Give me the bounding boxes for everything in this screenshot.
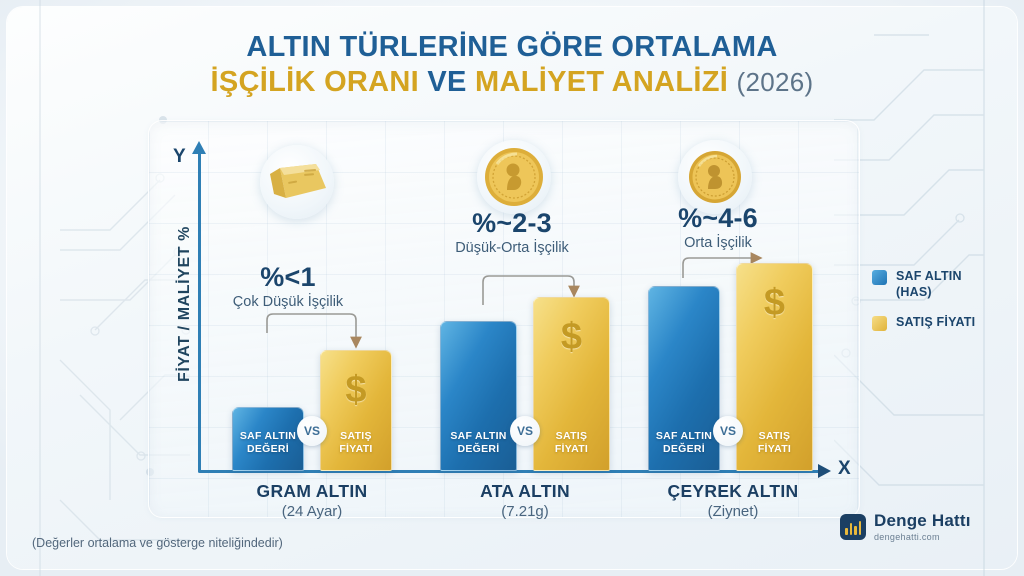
category-sub-3: (Ziynet) [628, 503, 838, 520]
title-blue-vs: VE [427, 66, 466, 98]
legend-item-satis-fiyati[interactable]: SATIŞ FİYATI [872, 314, 975, 331]
title-gold-b: MALİYET ANALİZİ [475, 66, 728, 98]
title-line-1: ALTIN TÜRLERİNE GÖRE ORTALAMA [0, 32, 1024, 63]
bar-label-satis-fiyati-2: SATIŞFİYATI [534, 430, 609, 456]
bar-label-saf-altin-3: SAF ALTINDEĞERİ [649, 430, 719, 456]
bar-label-satis-fiyati-1: SATIŞFİYATI [321, 430, 391, 456]
gold-coin-icon [483, 146, 545, 208]
category-sub-1: (24 Ayar) [212, 503, 412, 520]
category-name-3: ÇEYREK ALTIN [628, 481, 838, 502]
y-axis-title-anchor: FİYAT / MALİYET % [178, 150, 179, 151]
bar-group-gram-altin: SAF ALTINDEĞERİ $ SATIŞFİYATI VS [232, 231, 392, 471]
page-title: ALTIN TÜRLERİNE GÖRE ORTALAMA İŞÇİLİK OR… [0, 32, 1024, 97]
denge-hatti-logo-icon [840, 514, 866, 540]
gold-coin-small-icon [687, 149, 743, 205]
x-axis-letter: X [838, 458, 851, 480]
dollar-icon-1: $ [321, 369, 391, 412]
bar-label-saf-altin-1: SAF ALTINDEĞERİ [233, 430, 303, 456]
legend-label-satis-fiyati: SATIŞ FİYATI [896, 314, 975, 330]
infographic-canvas: ALTIN TÜRLERİNE GÖRE ORTALAMA İŞÇİLİK OR… [0, 0, 1024, 576]
dollar-icon-3: $ [737, 282, 812, 325]
bar-satis-fiyati-2[interactable]: $ SATIŞFİYATI [533, 297, 610, 471]
y-axis-line [198, 152, 201, 472]
bar-group-ata-altin: SAF ALTINDEĞERİ $ SATIŞFİYATI VS [440, 231, 610, 471]
category-label-ata-altin: ATA ALTIN (7.21g) [425, 481, 625, 520]
brand-url: dengehatti.com [874, 532, 971, 542]
chart-legend: SAF ALTIN(HAS) SATIŞ FİYATI [872, 268, 975, 344]
title-line-2: İŞÇİLİK ORANI VE MALİYET ANALİZİ (2026) [0, 67, 1024, 98]
vs-badge-3: VS [713, 416, 743, 446]
bar-satis-fiyati-1[interactable]: $ SATIŞFİYATI [320, 350, 392, 471]
x-axis-arrow-icon [818, 464, 831, 478]
vs-badge-1: VS [297, 416, 327, 446]
y-axis-arrow-icon [192, 141, 206, 154]
gold-bar-icon-badge [260, 145, 334, 219]
bar-saf-altin-2[interactable]: SAF ALTINDEĞERİ [440, 321, 517, 471]
vs-badge-2: VS [510, 416, 540, 446]
bar-satis-fiyati-3[interactable]: $ SATIŞFİYATI [736, 263, 813, 471]
brand-logo[interactable]: Denge Hattı dengehatti.com [840, 512, 971, 542]
bar-group-ceyrek-altin: SAF ALTINDEĞERİ $ SATIŞFİYATI VS [648, 221, 818, 471]
footnote: (Değerler ortalama ve gösterge niteliğin… [32, 536, 283, 550]
brand-name: Denge Hattı [874, 512, 971, 529]
category-sub-2: (7.21g) [425, 503, 625, 520]
gold-coin-icon-badge [477, 140, 551, 214]
gold-bar-icon [266, 158, 328, 206]
y-axis-letter: Y [173, 146, 186, 168]
legend-item-saf-altin[interactable]: SAF ALTIN(HAS) [872, 268, 975, 301]
bar-label-saf-altin-2: SAF ALTINDEĞERİ [441, 430, 516, 456]
category-name-2: ATA ALTIN [425, 481, 625, 502]
legend-swatch-gold [872, 316, 887, 331]
legend-swatch-blue [872, 270, 887, 285]
category-name-1: GRAM ALTIN [212, 481, 412, 502]
category-label-ceyrek-altin: ÇEYREK ALTIN (Ziynet) [628, 481, 838, 520]
title-gold-a: İŞÇİLİK ORANI [211, 66, 420, 98]
bar-saf-altin-3[interactable]: SAF ALTINDEĞERİ [648, 286, 720, 471]
bar-saf-altin-1[interactable]: SAF ALTINDEĞERİ [232, 407, 304, 471]
legend-label-saf-altin: SAF ALTIN(HAS) [896, 268, 962, 301]
title-year: (2026) [737, 67, 814, 97]
category-label-gram-altin: GRAM ALTIN (24 Ayar) [212, 481, 412, 520]
dollar-icon-2: $ [534, 316, 609, 359]
bar-label-satis-fiyati-3: SATIŞFİYATI [737, 430, 812, 456]
